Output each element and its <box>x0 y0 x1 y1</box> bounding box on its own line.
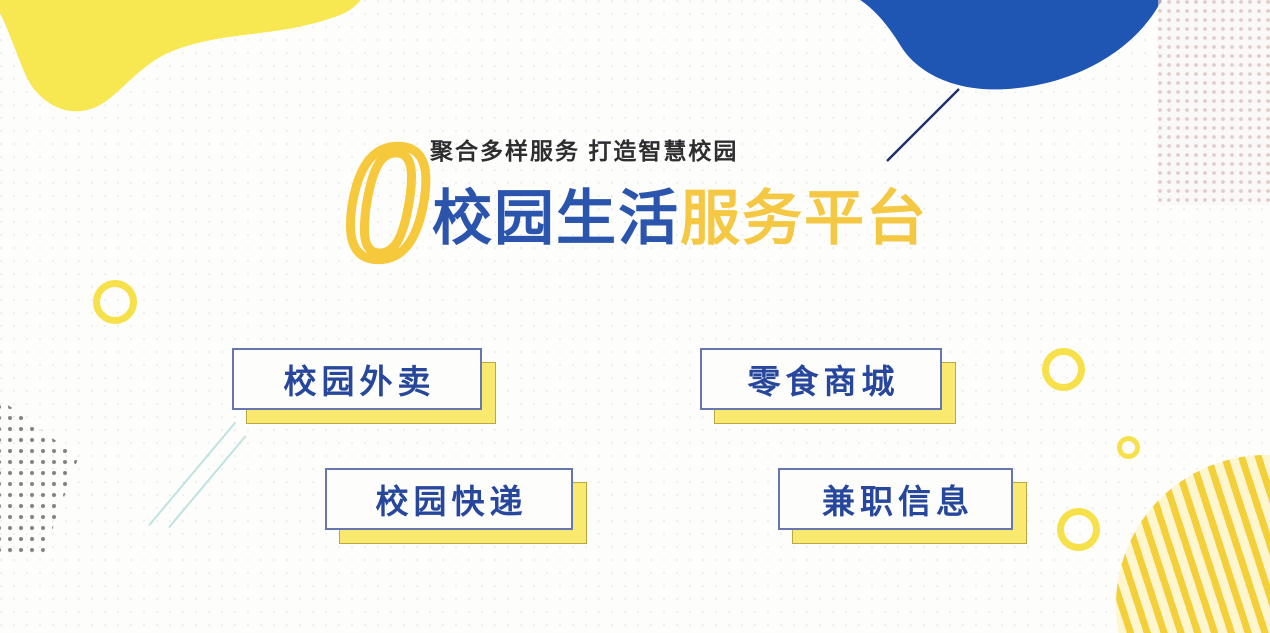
dark-dot-diamond-icon <box>0 372 94 558</box>
page-title-gold-part: 服务平台 <box>680 185 928 252</box>
zero-logo-mark: 0 <box>344 118 428 286</box>
service-button-campus-express[interactable]: 校园快递 <box>325 468 573 530</box>
button-face[interactable]: 校园快递 <box>325 468 573 530</box>
page-title-blue-part: 校园生活 <box>432 185 680 252</box>
service-button-label: 零食商城 <box>743 355 900 403</box>
button-face[interactable]: 校园外卖 <box>232 348 482 410</box>
teal-hairline-a-icon <box>148 422 236 527</box>
service-button-snack-mall[interactable]: 零食商城 <box>700 348 942 410</box>
navy-diagonal-line-icon <box>885 87 961 163</box>
yellow-ring-left-icon <box>93 280 137 324</box>
service-button-part-time-jobs[interactable]: 兼职信息 <box>778 468 1013 530</box>
service-button-label: 校园外卖 <box>279 355 436 403</box>
campus-life-service-banner: 0 聚合多样服务 打造智慧校园 校园生活服务平台 校园外卖 零食商城 校园快递 … <box>0 0 1270 633</box>
teal-hairline-b-icon <box>168 435 247 528</box>
service-button-campus-takeout[interactable]: 校园外卖 <box>232 348 482 410</box>
yellow-striped-circle-icon <box>1116 455 1270 633</box>
pink-dot-panel-icon <box>1158 0 1270 205</box>
service-button-label: 校园快递 <box>371 475 528 523</box>
button-face[interactable]: 零食商城 <box>700 348 942 410</box>
banner-subtitle: 聚合多样服务 打造智慧校园 <box>430 132 738 166</box>
yellow-ring-right-upper-icon <box>1042 348 1085 391</box>
yellow-blob-top-left-icon <box>0 0 380 130</box>
button-face[interactable]: 兼职信息 <box>778 468 1013 530</box>
page-title: 校园生活服务平台 <box>432 186 928 252</box>
yellow-ring-small-icon <box>1117 436 1140 459</box>
blue-blob-top-right-icon <box>770 0 1190 150</box>
yellow-ring-right-lower-icon <box>1057 508 1100 551</box>
background-dot-texture <box>0 0 1270 633</box>
service-button-label: 兼职信息 <box>817 475 974 523</box>
